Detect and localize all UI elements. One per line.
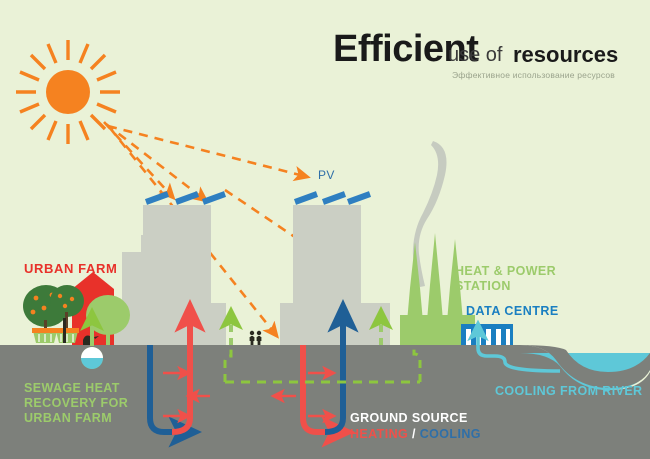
infographic-canvas: Efficient use of resources Эффективное и… — [0, 0, 650, 459]
sewage-line-2: RECOVERY FOR — [24, 396, 128, 410]
label-cooling-from-river: COOLING FROM RIVER — [495, 384, 642, 398]
page-title-light: use of — [448, 44, 502, 67]
planter-box — [32, 328, 58, 343]
label-heating: HEATING — [350, 427, 408, 441]
planter-box — [55, 328, 79, 343]
sun-icon — [16, 40, 120, 144]
label-urban-farm: URBAN FARM — [24, 261, 117, 276]
page-title-bold2: resources — [513, 42, 618, 68]
label-slash: / — [408, 427, 420, 441]
label-cooling: COOLING — [420, 427, 481, 441]
label-heat-power-station: HEAT & POWER STATION — [455, 264, 556, 294]
sewage-line-1: SEWAGE HEAT — [24, 381, 120, 395]
farmer-figure — [63, 318, 66, 343]
label-data-centre: DATA CENTRE — [466, 304, 559, 318]
hps-line-2: STATION — [455, 279, 511, 293]
label-pv: PV — [318, 168, 335, 182]
sewage-line-3: URBAN FARM — [24, 411, 112, 425]
data-centre-icon — [461, 324, 513, 346]
label-heating-cooling: HEATING / COOLING — [350, 427, 481, 441]
label-ground-source: GROUND SOURCE — [350, 411, 468, 425]
page-subtitle-russian: Эффективное использование ресурсов — [452, 70, 615, 80]
hps-line-1: HEAT & POWER — [455, 264, 556, 278]
label-sewage-heat-recovery: SEWAGE HEAT RECOVERY FOR URBAN FARM — [24, 381, 128, 426]
